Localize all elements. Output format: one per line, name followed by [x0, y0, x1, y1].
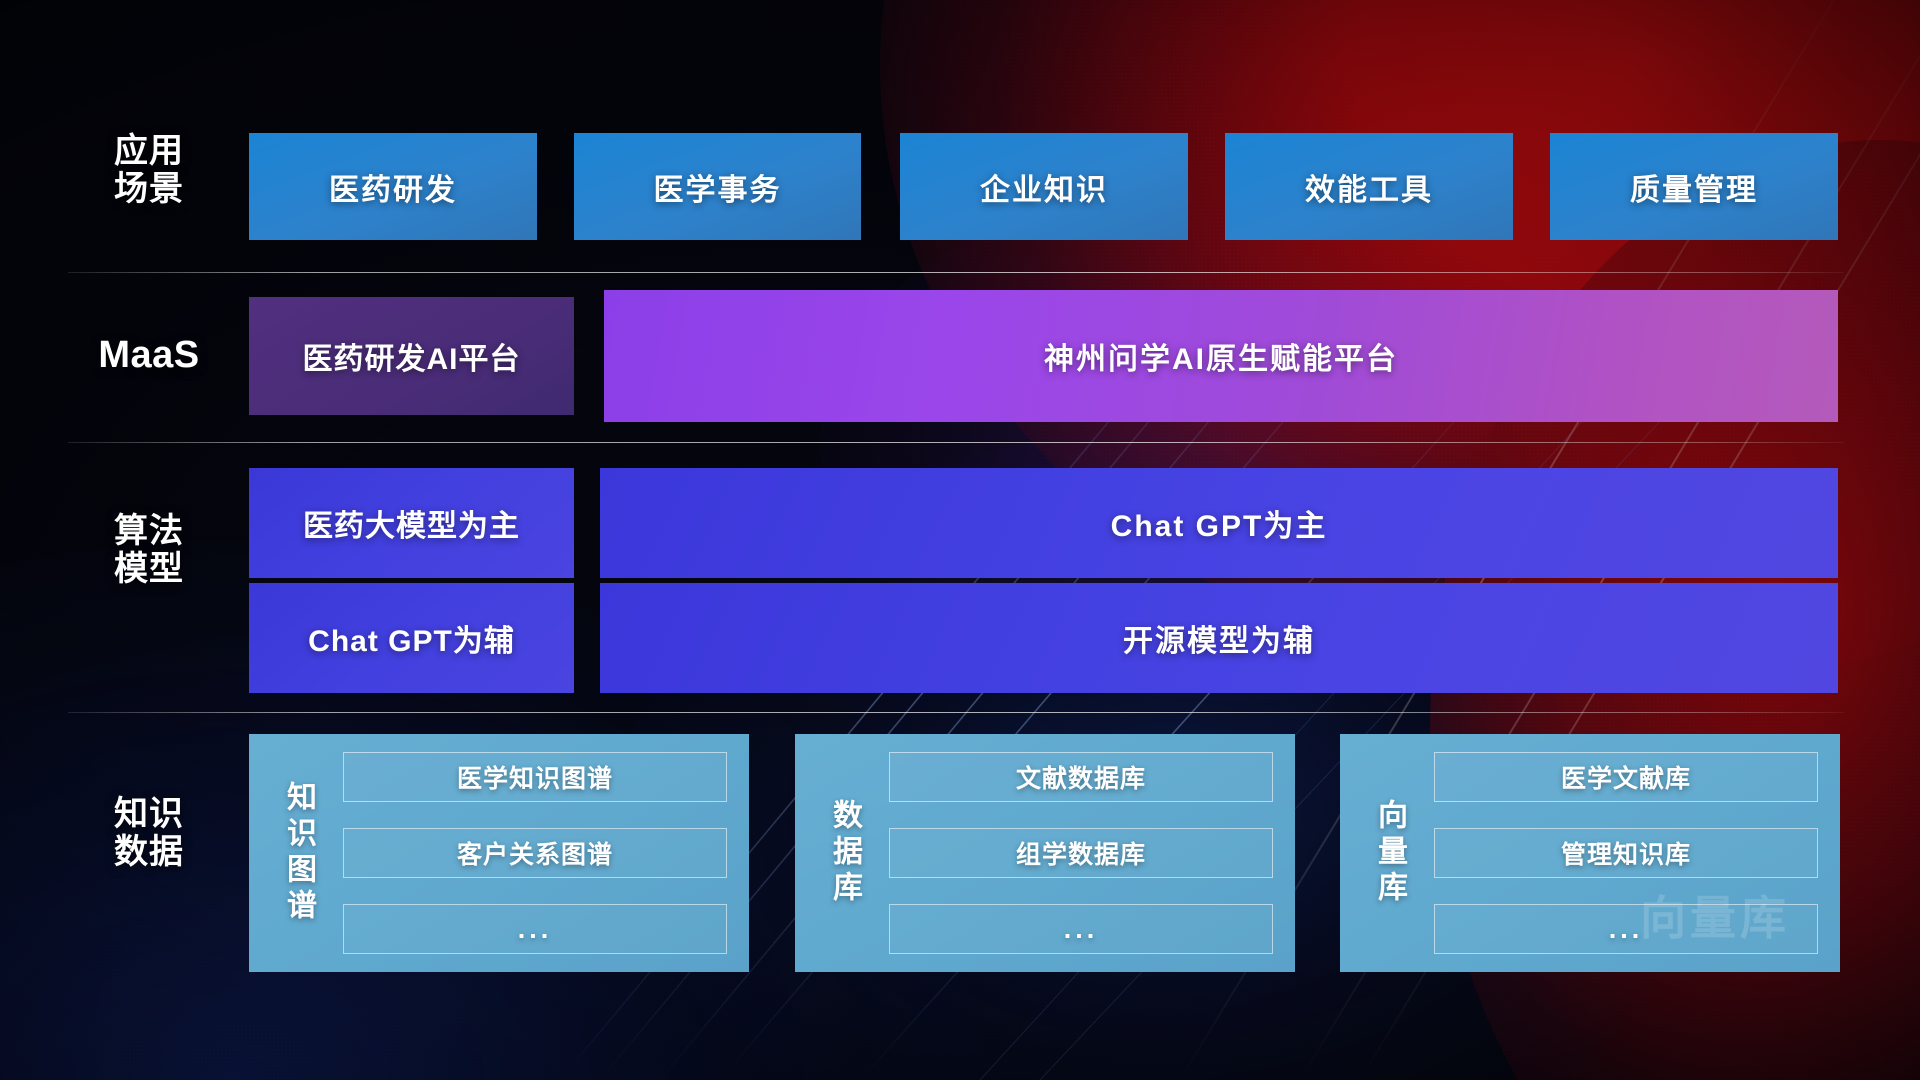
app-box-4[interactable]: 效能工具	[1225, 133, 1513, 240]
algo-box-chatgpt-secondary[interactable]: Chat GPT为辅	[249, 583, 574, 693]
algo-box-opensource-secondary[interactable]: 开源模型为辅	[600, 583, 1838, 693]
knowledge-item[interactable]: 文献数据库	[889, 752, 1273, 802]
knowledge-card-title-database: 数据库	[813, 752, 875, 954]
row-label-application-scenarios: 应用 场景	[74, 132, 224, 208]
maas-box-medical-ai-platform[interactable]: 医药研发AI平台	[249, 297, 574, 415]
knowledge-item[interactable]: 医学知识图谱	[343, 752, 727, 802]
divider-2	[68, 442, 1844, 443]
knowledge-card-title-vector-store: 向量库	[1358, 752, 1420, 954]
app-box-2[interactable]: 医学事务	[574, 133, 861, 240]
maas-box-shenzhou-wenxue-platform[interactable]: 神州问学AI原生赋能平台	[604, 290, 1838, 422]
knowledge-item[interactable]: 管理知识库	[1434, 828, 1818, 878]
app-box-1[interactable]: 医药研发	[249, 133, 537, 240]
knowledge-card-title-knowledge-graph: 知识图谱	[267, 752, 329, 954]
knowledge-item[interactable]: 医学文献库	[1434, 752, 1818, 802]
app-box-5[interactable]: 质量管理	[1550, 133, 1838, 240]
algo-box-medical-large-model-primary[interactable]: 医药大模型为主	[249, 468, 574, 578]
knowledge-item[interactable]: 客户关系图谱	[343, 828, 727, 878]
algo-box-chatgpt-primary[interactable]: Chat GPT为主	[600, 468, 1838, 578]
knowledge-card-database[interactable]: 数据库 文献数据库 组学数据库 ...	[795, 734, 1295, 972]
knowledge-item-more[interactable]: ...	[343, 904, 727, 954]
knowledge-card-knowledge-graph[interactable]: 知识图谱 医学知识图谱 客户关系图谱 ...	[249, 734, 749, 972]
knowledge-card-vector-store[interactable]: 向量库 医学文献库 管理知识库 ... 向量库	[1340, 734, 1840, 972]
knowledge-item-more[interactable]: ...	[889, 904, 1273, 954]
divider-1	[68, 272, 1844, 273]
knowledge-item[interactable]: 组学数据库	[889, 828, 1273, 878]
row-label-knowledge-data: 知识 数据	[74, 795, 224, 871]
row-label-algorithm-model: 算法 模型	[74, 512, 224, 588]
divider-3	[68, 712, 1844, 713]
row-label-maas: MaaS	[74, 334, 224, 377]
knowledge-item-more[interactable]: ...	[1434, 904, 1818, 954]
app-box-3[interactable]: 企业知识	[900, 133, 1188, 240]
